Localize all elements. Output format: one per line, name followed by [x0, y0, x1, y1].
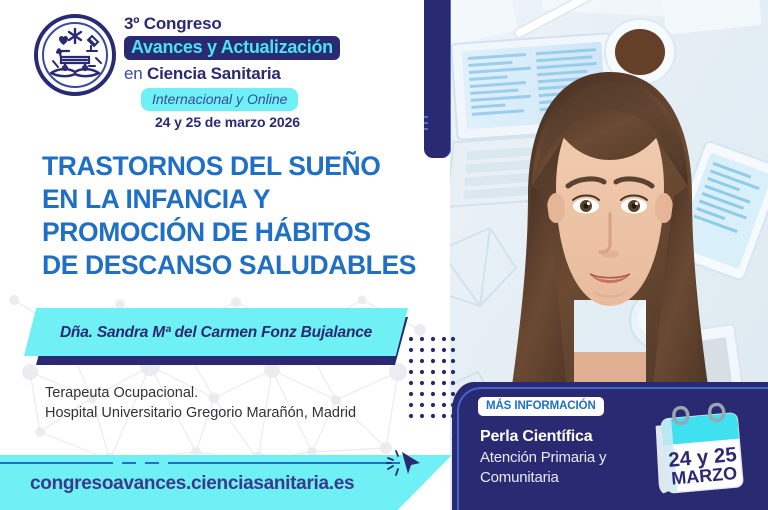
info-panel-subtitle-line: Comunitaria: [480, 468, 645, 488]
info-panel-heading: Perla Científica: [480, 428, 592, 446]
congress-subject-bold: Ciencia Sanitaria: [147, 64, 281, 83]
info-panel-subtitle-line: Atención Primaria y: [480, 448, 645, 468]
congress-subject-line: en Ciencia Sanitaria: [124, 63, 424, 84]
congress-header: 3º Congreso Avances y Actualización en C…: [124, 14, 424, 84]
speaker-name: Dña. Sandra Mª del Carmen Fonz Bujalance: [36, 323, 396, 342]
navy-vertical-accent-bar: [424, 0, 451, 158]
congress-name-highlight: Avances y Actualización: [124, 36, 340, 60]
promo-poster: 3º Congreso Avances y Actualización en C…: [0, 0, 768, 510]
dot-grid-decoration: [408, 336, 456, 426]
speaker-banner: Dña. Sandra Mª del Carmen Fonz Bujalance: [24, 308, 434, 370]
page-title-line: EN LA INFANCIA Y: [42, 183, 442, 216]
page-title-line: PROMOCIÓN DE HÁBITOS: [42, 216, 442, 249]
congress-edition-line: 3º Congreso: [124, 14, 424, 34]
affiliation-role: Terapeuta Ocupacional.: [45, 383, 415, 403]
more-info-badge[interactable]: MÁS INFORMACIÓN: [478, 397, 604, 416]
congress-dates: 24 y 25 de marzo 2026: [155, 114, 300, 130]
congress-emblem-logo: [33, 13, 117, 97]
congress-subject-prefix: en: [124, 64, 147, 83]
calendar-icon: 24 y 25 MARZO: [648, 402, 754, 500]
speaker-affiliation: Terapeuta Ocupacional. Hospital Universi…: [45, 383, 415, 423]
website-band-rule: [0, 462, 420, 464]
format-badge: Internacional y Online: [141, 88, 298, 111]
page-title: TRASTORNOS DEL SUEÑO EN LA INFANCIA Y PR…: [42, 150, 442, 282]
affiliation-institution: Hospital Universitario Gregorio Marañón,…: [45, 403, 415, 423]
website-link[interactable]: congresoavances.cienciasanitaria.es: [30, 473, 354, 495]
page-title-line: DE DESCANSO SALUDABLES: [42, 249, 442, 282]
info-panel-subtitle: Atención Primaria y Comunitaria: [480, 448, 645, 488]
page-title-line: TRASTORNOS DEL SUEÑO: [42, 150, 442, 183]
cursor-sparkle-icon: [386, 450, 426, 486]
speaker-banner-front: Dña. Sandra Mª del Carmen Fonz Bujalance: [24, 308, 408, 356]
